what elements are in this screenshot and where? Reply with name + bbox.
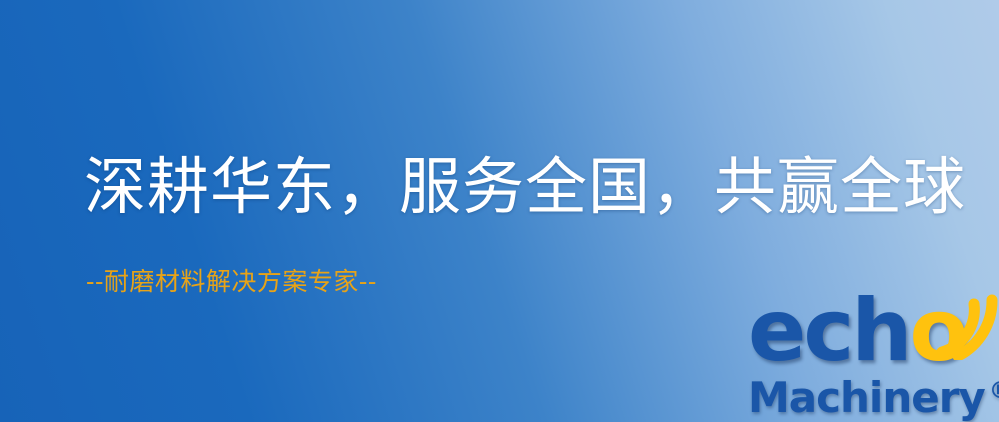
banner-subtitle: --耐磨材料解决方案专家-- xyxy=(86,266,377,298)
logo-text-ech: ech xyxy=(748,281,910,381)
echo-machinery-logo[interactable]: echo Machinery® xyxy=(742,292,999,417)
logo-tagline-text: Machinery xyxy=(748,373,985,422)
logo-tagline: Machinery® xyxy=(748,370,999,419)
registered-trademark-icon: ® xyxy=(989,378,999,404)
signal-arcs-icon xyxy=(924,290,998,360)
hero-banner: 深耕华东，服务全国，共赢全球 --耐磨材料解决方案专家-- echo Machi… xyxy=(0,0,999,422)
banner-headline: 深耕华东，服务全国，共赢全球 xyxy=(84,152,966,222)
